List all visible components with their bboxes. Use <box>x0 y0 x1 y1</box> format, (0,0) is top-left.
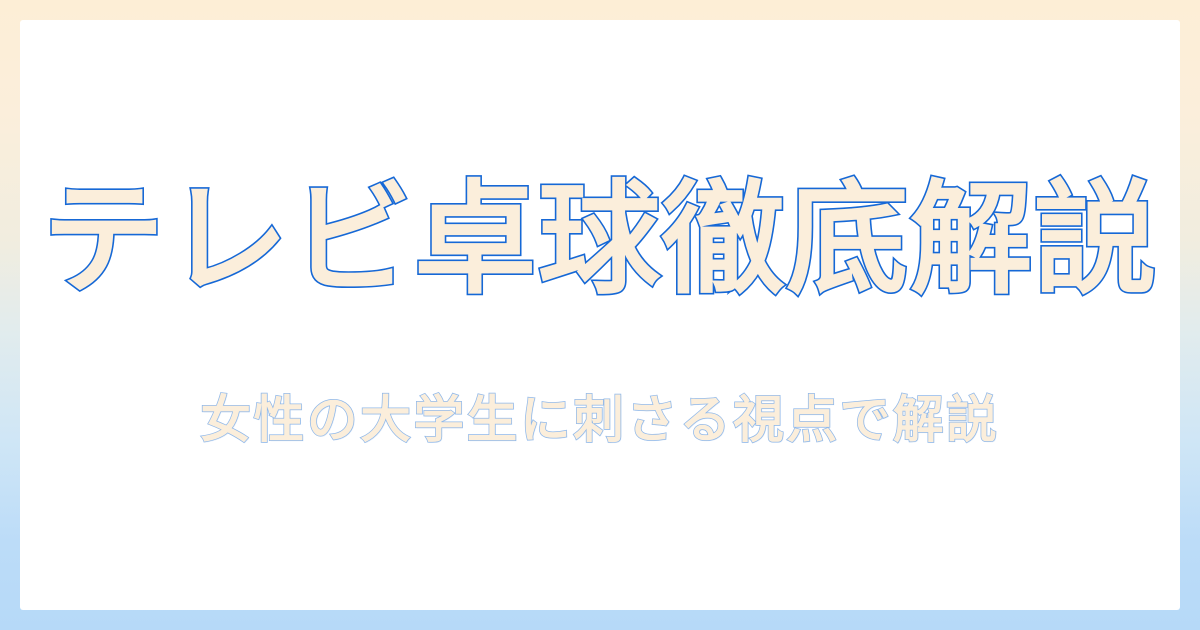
title-block: テレビ卓球徹底解説 <box>20 168 1180 313</box>
inner-white-panel: テレビ卓球徹底解説 女性の大学生に刺さる視点で解説 <box>20 20 1180 610</box>
page-title: テレビ卓球徹底解説 <box>42 168 1158 313</box>
thumbnail-card: テレビ卓球徹底解説 女性の大学生に刺さる視点で解説 <box>0 0 1200 630</box>
page-subtitle: 女性の大学生に刺さる視点で解説 <box>200 390 999 451</box>
subtitle-block: 女性の大学生に刺さる視点で解説 <box>20 390 1180 451</box>
